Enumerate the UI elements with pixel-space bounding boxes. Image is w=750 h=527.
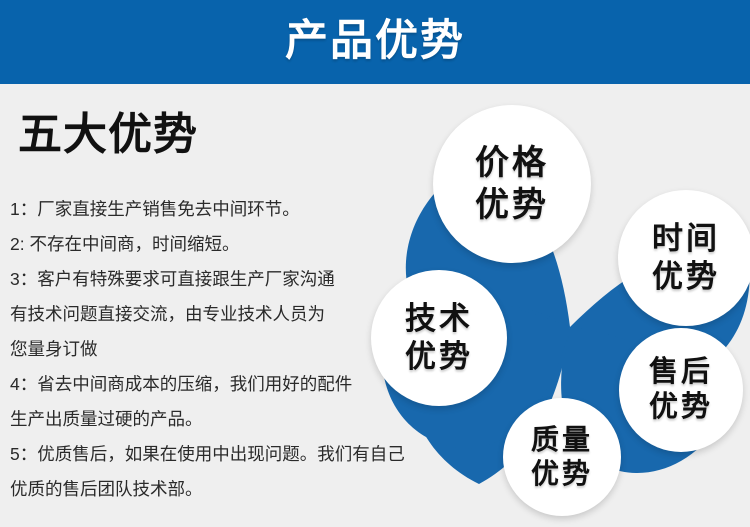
bubble-service[interactable]: 售后 优势 [619, 328, 743, 452]
bubble-tech[interactable]: 技术 优势 [371, 270, 507, 406]
bubble-price[interactable]: 价格 优势 [433, 105, 591, 263]
bubble-price-line1: 价格 [475, 142, 549, 184]
bubble-price-line2: 优势 [475, 184, 549, 226]
bubble-quality-line2: 优势 [531, 457, 593, 491]
bubble-quality-line1: 质量 [531, 423, 593, 457]
bubble-quality[interactable]: 质量 优势 [503, 398, 621, 516]
bubble-tech-line2: 优势 [405, 338, 473, 376]
bubble-time-line1: 时间 [652, 220, 720, 258]
bubble-service-line2: 优势 [649, 390, 713, 425]
bubble-time-line2: 优势 [652, 258, 720, 296]
bubble-time[interactable]: 时间 优势 [618, 190, 750, 326]
bubble-service-line1: 售后 [649, 355, 713, 390]
bubble-tech-line1: 技术 [405, 300, 473, 338]
section-heading: 五大优势 [18, 110, 198, 160]
pinwheel-diagram: 价格 优势 时间 优势 售后 优势 质量 优势 技术 优势 [355, 88, 750, 527]
page-title: 产品优势 [0, 14, 750, 68]
product-advantages-page: 产品优势 五大优势 1：厂家直接生产销售免去中间环节。 2: 不存在中间商，时间… [0, 0, 750, 527]
header-banner: 产品优势 [0, 0, 750, 84]
